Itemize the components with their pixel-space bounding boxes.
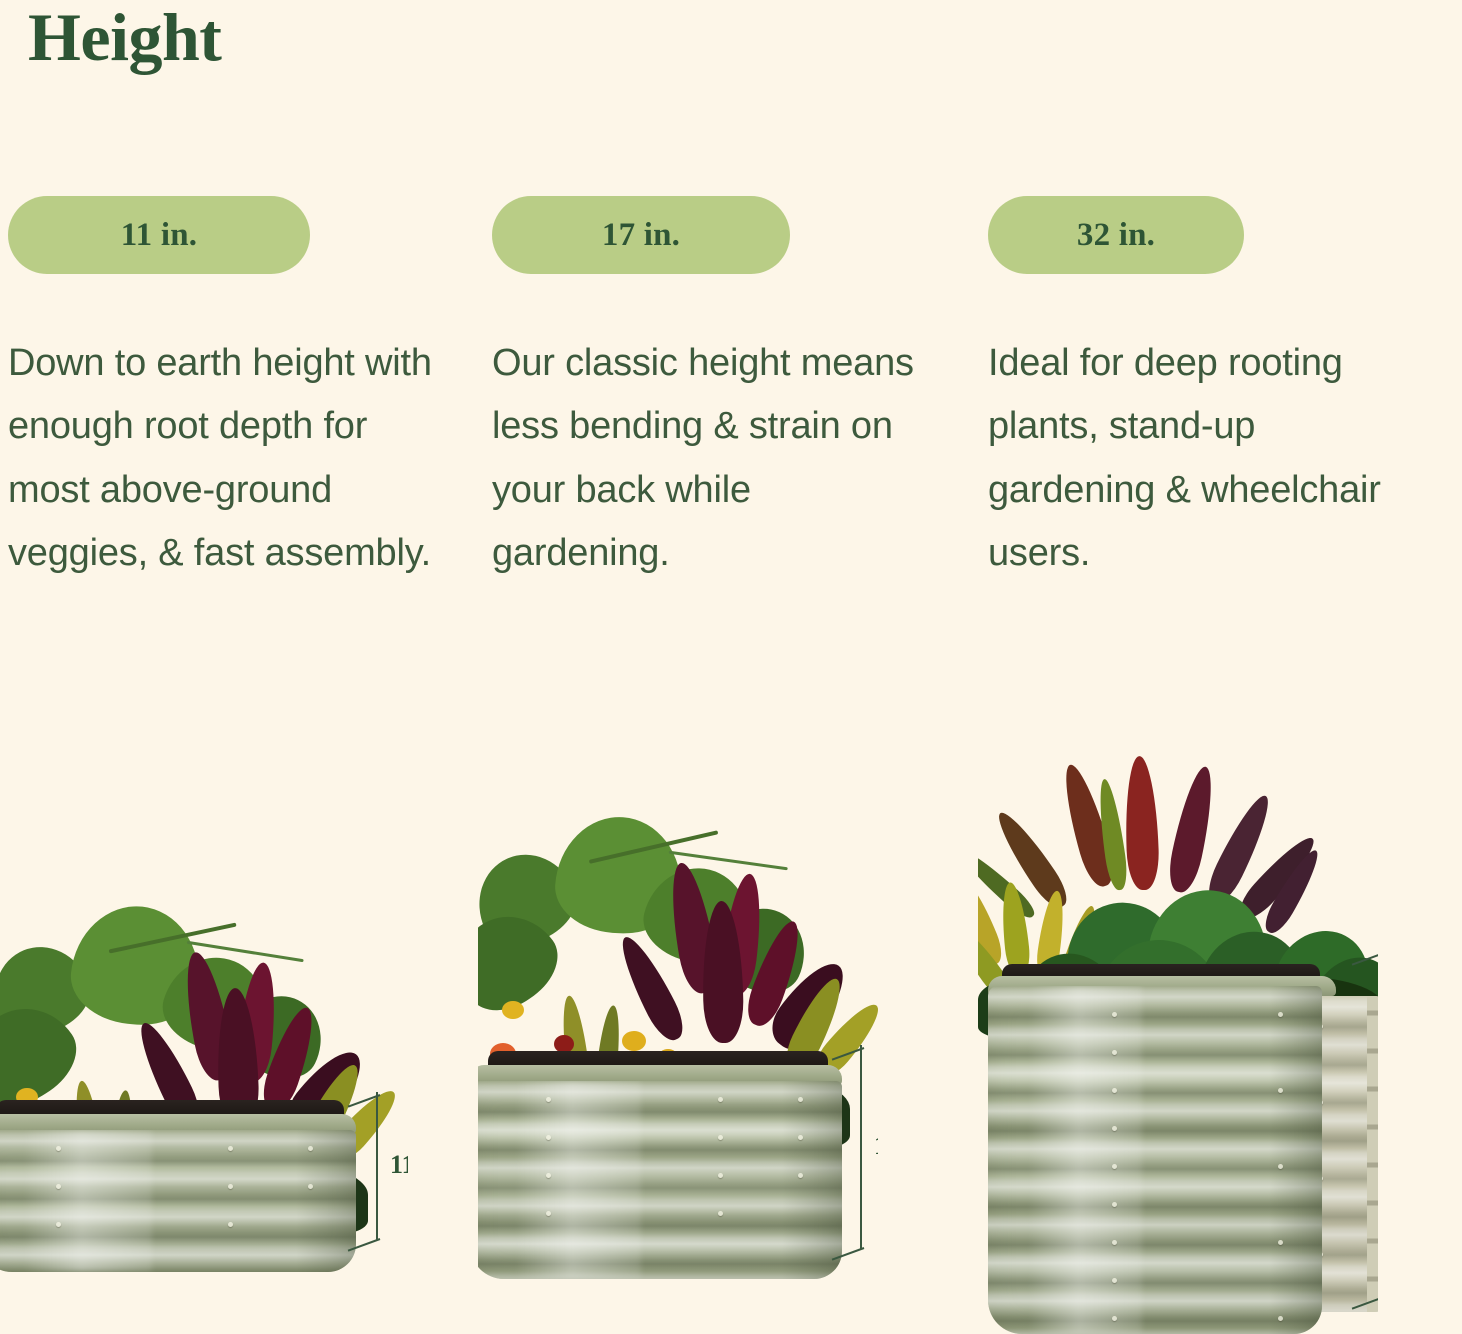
rivet: [308, 1146, 313, 1151]
leaf-green: [154, 945, 279, 1062]
planter-front-face: [988, 986, 1322, 1334]
leaf-green: [636, 857, 762, 974]
stem-arch: [109, 923, 237, 954]
badge-17in[interactable]: 17 in.: [492, 196, 790, 274]
leaf-burgundy: [990, 806, 1074, 913]
rivet: [798, 1135, 803, 1140]
metal-gloss: [23, 1130, 152, 1272]
description-32in: Ideal for deep rooting plants, stand-up …: [988, 332, 1408, 586]
product-image-32in: 32” tall: [978, 754, 1378, 1334]
leaf-burgundy: [1056, 761, 1120, 890]
leaf-burgundy: [718, 872, 767, 997]
leaf-green: [552, 813, 686, 938]
edge-shadow: [296, 1130, 356, 1272]
edge-shadow: [782, 1081, 842, 1279]
rivet: [718, 1135, 723, 1140]
rivet: [1112, 1050, 1117, 1055]
badge-11in[interactable]: 11 in.: [8, 196, 310, 274]
leaf-burgundy: [1233, 830, 1322, 925]
leaf-burgundy: [702, 901, 744, 1044]
leaf-green: [1095, 778, 1130, 892]
rivet: [546, 1097, 551, 1102]
rivet: [1278, 1088, 1283, 1093]
leaf-green: [478, 896, 572, 1026]
rivet: [718, 1173, 723, 1178]
stem-arch: [589, 830, 719, 864]
rivet: [546, 1173, 551, 1178]
stem-arch: [669, 851, 788, 871]
rivet: [56, 1184, 61, 1189]
rivet: [1112, 1316, 1117, 1321]
height-option-32in: 32 in. Ideal for deep rooting plants, st…: [988, 196, 1408, 586]
rivet: [1278, 1240, 1283, 1245]
stem-arch: [187, 941, 304, 962]
rivet: [546, 1135, 551, 1140]
rivet: [798, 1097, 803, 1102]
rivet: [1278, 1164, 1283, 1169]
rivet: [718, 1097, 723, 1102]
leaf-croton: [998, 881, 1032, 977]
rivet: [798, 1173, 803, 1178]
rivet: [228, 1146, 233, 1151]
rivet: [1112, 1202, 1117, 1207]
metal-gloss: [1028, 986, 1142, 1334]
rivet: [1112, 1240, 1117, 1245]
leaf-green: [0, 932, 101, 1048]
planter-front-face: [0, 1130, 356, 1272]
leaf-croton: [978, 874, 1007, 968]
leaf-green: [224, 981, 336, 1091]
leaf-green: [66, 900, 206, 1031]
leaf-burgundy: [1123, 756, 1160, 891]
leaf-green: [478, 839, 588, 959]
height-option-11in: 11 in. Down to earth height with enough …: [8, 196, 448, 586]
page-title: Height: [28, 2, 221, 73]
leaf-burgundy: [1201, 790, 1278, 908]
corrugation-scalloped-edge: [1367, 996, 1378, 1312]
leaf-burgundy: [741, 916, 809, 1030]
flower-yellow: [622, 1031, 646, 1051]
dimension-label-17in: 17” tall: [874, 1131, 878, 1161]
product-image-17in: 17” tall: [478, 809, 878, 1279]
dimension-line: [860, 1045, 862, 1249]
leaf-burgundy: [663, 860, 721, 996]
leaf-burgundy: [1164, 764, 1220, 895]
rivet: [1112, 1088, 1117, 1093]
leaf-burgundy: [234, 961, 280, 1084]
rivet: [308, 1184, 313, 1189]
flower-yellow: [502, 1001, 524, 1019]
product-image-11in: 11” tall: [0, 884, 408, 1304]
rivet: [228, 1222, 233, 1227]
rivet: [56, 1222, 61, 1227]
dimension-label-11in: 11” tall: [390, 1150, 408, 1180]
dimension-line: [376, 1092, 378, 1240]
rivet: [1278, 1316, 1283, 1321]
metal-gloss: [515, 1081, 641, 1279]
height-comparison-section: Height 11 in. Down to earth height with …: [0, 0, 1462, 1334]
rivet: [546, 1211, 551, 1216]
planter-front-face: [478, 1081, 842, 1279]
leaf-green: [706, 894, 820, 1005]
leaf-burgundy: [762, 952, 857, 1058]
rivet: [1112, 1126, 1117, 1131]
rivet: [1112, 1278, 1117, 1283]
leaf-burgundy: [178, 949, 238, 1083]
leaf-burgundy: [257, 1003, 322, 1116]
rivet: [1112, 1164, 1117, 1169]
rivet: [1112, 1012, 1117, 1017]
planter-32in: [988, 964, 1378, 1334]
rivet: [56, 1146, 61, 1151]
description-17in: Our classic height means less bending & …: [492, 332, 922, 586]
rivet: [718, 1211, 723, 1216]
planter-11in: [0, 1100, 360, 1272]
leaf-green: [978, 844, 1039, 923]
height-option-17in: 17 in. Our classic height means less ben…: [492, 196, 922, 586]
leaf-burgundy: [612, 931, 690, 1046]
edge-shadow: [1269, 986, 1322, 1334]
leaf-burgundy: [1259, 845, 1325, 937]
planter-17in: [478, 1051, 846, 1279]
rivet: [1278, 1012, 1283, 1017]
badge-32in[interactable]: 32 in.: [988, 196, 1244, 274]
rivet: [228, 1184, 233, 1189]
description-11in: Down to earth height with enough root de…: [8, 332, 448, 586]
